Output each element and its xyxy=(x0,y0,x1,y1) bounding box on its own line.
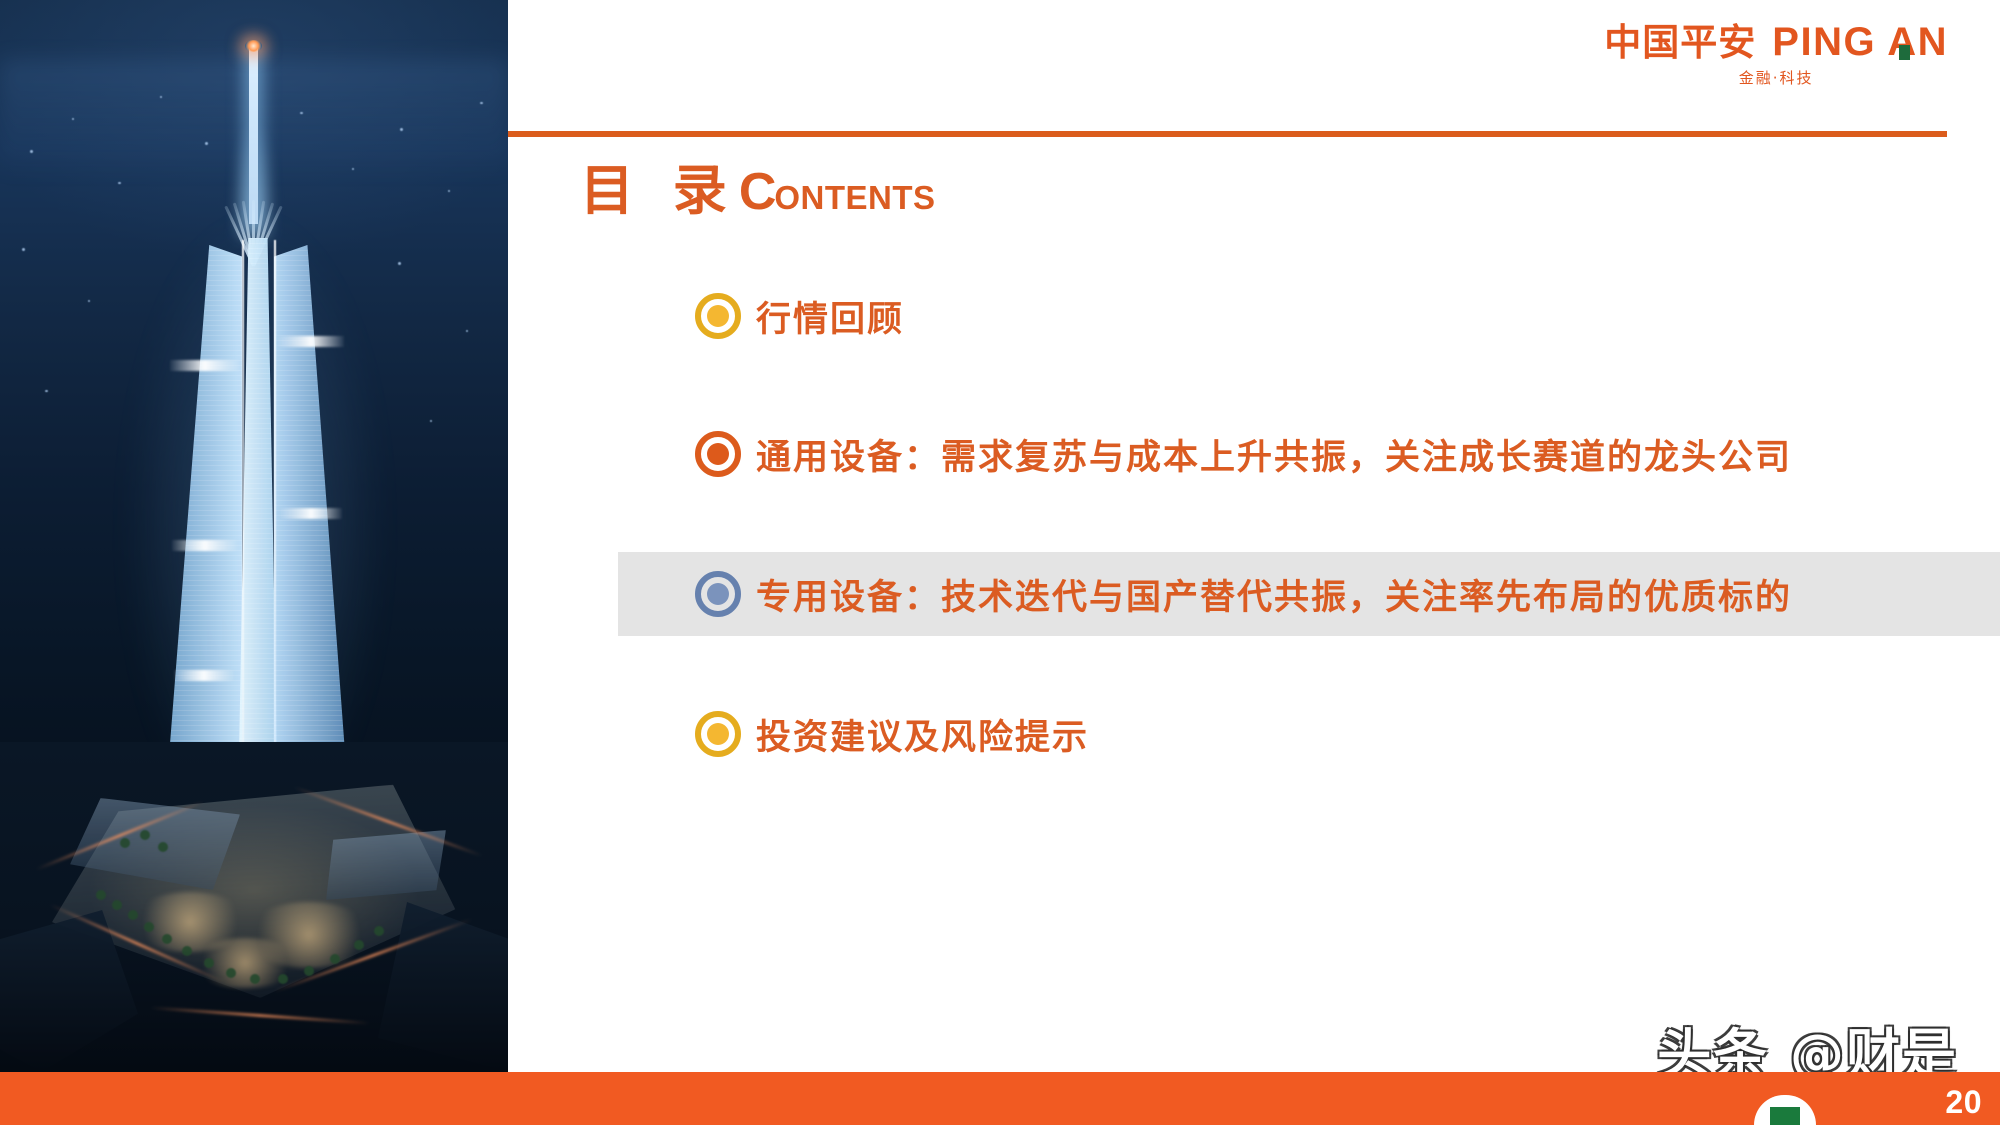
tree xyxy=(354,940,364,950)
city-light xyxy=(430,420,432,422)
city-light xyxy=(45,390,48,392)
tower-light-band xyxy=(170,360,240,371)
tree xyxy=(112,900,122,910)
city-light xyxy=(72,118,74,120)
pingan-logo: 中国平安 PING AN 金融·科技 xyxy=(1604,22,1948,86)
tree xyxy=(162,934,172,944)
logo-tagline: 金融·科技 xyxy=(1604,71,1948,86)
contents-list: 行情回顾 通用设备：需求复苏与成本上升共振，关注成长赛道的龙头公司 专用设备：技… xyxy=(618,276,1948,832)
podium-building-right xyxy=(326,830,446,900)
tower-light-band xyxy=(172,540,238,551)
tower-facet-right xyxy=(274,245,350,820)
city-light xyxy=(480,102,483,104)
toc-item-label: 行情回顾 xyxy=(756,291,904,342)
bullet-ring-icon xyxy=(695,571,741,617)
tower-floor-lines xyxy=(274,245,350,820)
tree xyxy=(158,842,168,852)
tree xyxy=(128,910,138,920)
tower-rib xyxy=(242,240,244,820)
city-light xyxy=(160,96,162,98)
logo-chinese-text: 中国平安 xyxy=(1604,24,1756,61)
toc-item-3-active[interactable]: 专用设备：技术迭代与国产替代共振，关注率先布局的优质标的 xyxy=(618,552,2000,636)
tree xyxy=(182,946,192,956)
tree xyxy=(144,922,154,932)
page-title-english: ONTENTS xyxy=(774,179,935,217)
logo-english-label: PING AN xyxy=(1772,20,1948,64)
tree xyxy=(304,966,314,976)
toc-item-label: 通用设备：需求复苏与成本上升共振，关注成长赛道的龙头公司 xyxy=(756,429,1792,480)
toc-item-4[interactable]: 投资建议及风险提示 xyxy=(618,694,1948,774)
tower-facet-left xyxy=(164,245,242,820)
toc-item-label: 专用设备：技术迭代与国产替代共振，关注率先布局的优质标的 xyxy=(756,569,1792,620)
footer-bar: 20 xyxy=(0,1072,2000,1125)
tree xyxy=(120,838,130,848)
city-light xyxy=(22,248,25,251)
tree xyxy=(226,968,236,978)
slide-root: 中国平安 PING AN 金融·科技 目 录 C ONTENTS 行情回顾 通用… xyxy=(0,0,2000,1125)
city-light xyxy=(118,182,121,184)
footer-arch-decoration xyxy=(1754,1095,1816,1125)
tree xyxy=(250,974,260,984)
ground-plaza xyxy=(0,742,508,1072)
tree xyxy=(204,958,214,968)
city-light xyxy=(448,190,450,192)
toc-item-1[interactable]: 行情回顾 xyxy=(618,276,1948,356)
logo-green-square-icon xyxy=(1899,45,1910,60)
tree xyxy=(330,954,340,964)
page-title: 目 录 C ONTENTS xyxy=(580,146,936,225)
header-divider-rule xyxy=(508,131,1947,137)
city-light xyxy=(205,142,208,145)
road-light-trail xyxy=(150,1006,370,1024)
cover-photo-panel xyxy=(0,0,508,1072)
tower-rib xyxy=(274,240,276,820)
city-light xyxy=(88,300,90,302)
city-light xyxy=(466,330,468,332)
city-light xyxy=(300,112,303,114)
page-title-initial: C xyxy=(739,162,777,222)
city-light xyxy=(352,168,354,170)
footer-arch-green-block xyxy=(1770,1107,1800,1125)
city-light xyxy=(30,150,33,153)
tower-light-band xyxy=(278,336,344,347)
toc-item-label: 投资建议及风险提示 xyxy=(756,709,1089,760)
tower-floor-lines xyxy=(164,245,242,820)
tower-body xyxy=(150,240,360,820)
logo-english-text: PING AN xyxy=(1772,22,1948,62)
bullet-ring-icon xyxy=(695,711,741,757)
page-title-chinese: 目 录 xyxy=(580,146,737,225)
bullet-ring-icon xyxy=(695,293,741,339)
city-light xyxy=(398,262,401,265)
tree xyxy=(374,926,384,936)
tower-light-band xyxy=(280,508,342,519)
bullet-ring-icon xyxy=(695,431,741,477)
tree xyxy=(278,974,288,984)
city-light xyxy=(400,128,403,131)
tree xyxy=(140,830,150,840)
spire-beacon-light xyxy=(245,40,262,52)
logo-lockup: 中国平安 PING AN xyxy=(1604,22,1948,62)
tower-light-band xyxy=(174,670,234,681)
tree xyxy=(96,890,106,900)
toc-item-2[interactable]: 通用设备：需求复苏与成本上升共振，关注成长赛道的龙头公司 xyxy=(618,414,1948,494)
page-number: 20 xyxy=(1945,1084,1982,1121)
